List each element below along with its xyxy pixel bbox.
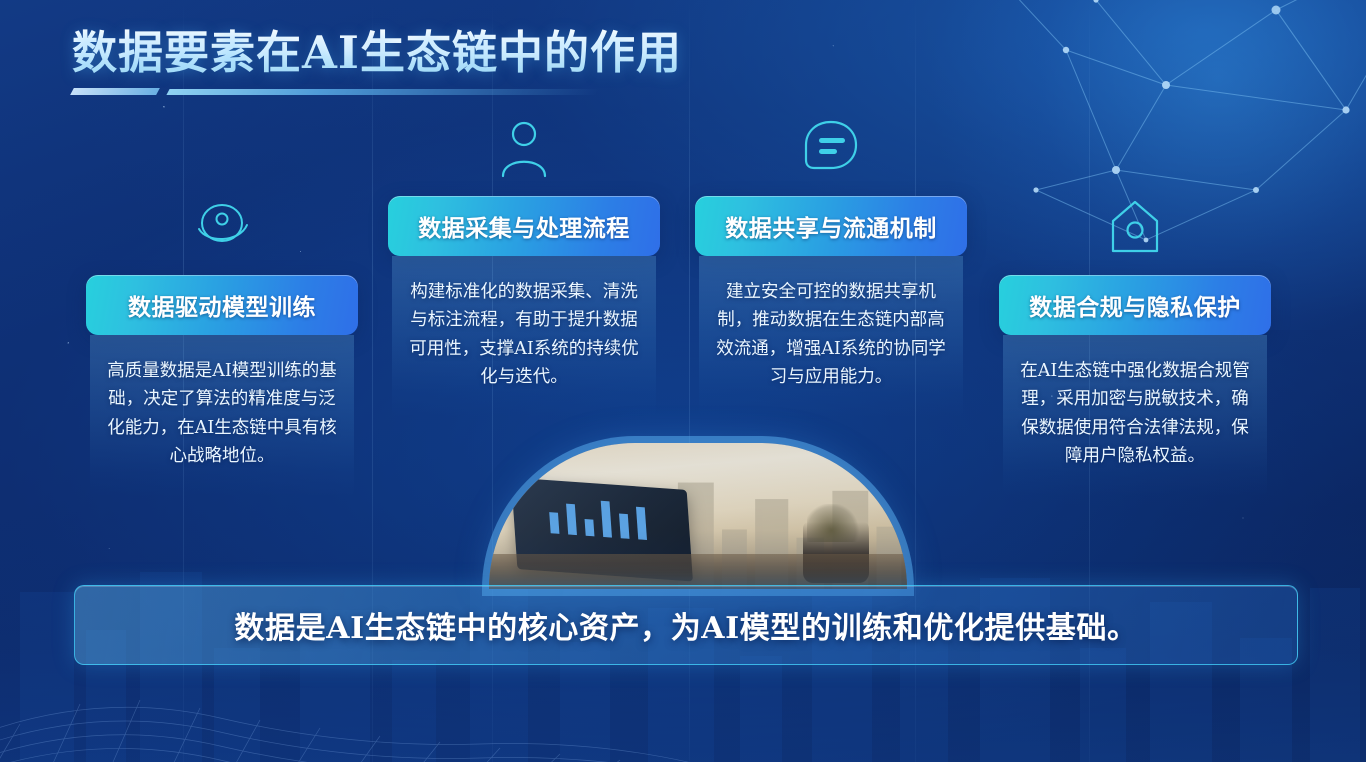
home-shield-icon: [1106, 197, 1164, 257]
office-desk-photo: [489, 443, 907, 589]
card-heading-text: 数据驱动模型训练: [128, 288, 316, 322]
planet-icon-holder: [86, 197, 358, 255]
page-title: 数据要素在AI生态链中的作用: [72, 28, 682, 78]
card-heading-text: 数据合规与隐私保护: [1029, 288, 1241, 322]
card-body-text: 构建标准化的数据采集、清洗与标注流程，有助于提升数据可用性，支撑AI系统的持续优…: [402, 278, 646, 391]
card-heading-pill[interactable]: 数据合规与隐私保护: [999, 275, 1271, 335]
card-body-text: 在AI生态链中强化数据合规管理，采用加密与脱敏技术，确保数据使用符合法律法规，保…: [1013, 357, 1257, 470]
user-icon: [495, 118, 553, 180]
chat-bubble-icon-holder: [695, 118, 967, 176]
card-compliance-privacy[interactable]: 数据合规与隐私保护 在AI生态链中强化数据合规管理，采用加密与脱敏技术，确保数据…: [999, 275, 1271, 496]
center-arch-image: [489, 443, 907, 589]
card-body-text: 高质量数据是AI模型训练的基础，决定了算法的精准度与泛化能力，在AI生态链中具有…: [100, 357, 344, 470]
card-body-panel: 在AI生态链中强化数据合规管理，采用加密与脱敏技术，确保数据使用符合法律法规，保…: [1003, 335, 1267, 496]
title-underline-segment: [70, 88, 160, 95]
card-heading-pill[interactable]: 数据采集与处理流程: [388, 196, 660, 256]
photo-blue-tint: [489, 443, 907, 589]
card-heading-text: 数据采集与处理流程: [418, 209, 630, 243]
summary-banner[interactable]: 数据是AI生态链中的核心资产，为AI模型的训练和优化提供基础。: [74, 585, 1298, 665]
summary-banner-text: 数据是AI生态链中的核心资产，为AI模型的训练和优化提供基础。: [234, 603, 1137, 647]
card-collection-pipeline[interactable]: 数据采集与处理流程 构建标准化的数据采集、清洗与标注流程，有助于提升数据可用性，…: [388, 196, 660, 417]
title-underline-accent: [72, 87, 612, 96]
card-body-panel: 构建标准化的数据采集、清洗与标注流程，有助于提升数据可用性，支撑AI系统的持续优…: [392, 256, 656, 417]
home-shield-icon-holder: [999, 197, 1271, 257]
slide-canvas: 数据要素在AI生态链中的作用: [0, 0, 1366, 762]
planet-icon: [191, 197, 253, 255]
card-data-driven-training[interactable]: 数据驱动模型训练 高质量数据是AI模型训练的基础，决定了算法的精准度与泛化能力，…: [86, 275, 358, 496]
chat-bubble-icon: [802, 118, 860, 176]
card-sharing-mechanism[interactable]: 数据共享与流通机制 建立安全可控的数据共享机制，推动数据在生态链内部高效流通，增…: [695, 196, 967, 417]
user-icon-holder: [388, 118, 660, 180]
card-heading-pill[interactable]: 数据共享与流通机制: [695, 196, 967, 256]
card-body-panel: 建立安全可控的数据共享机制，推动数据在生态链内部高效流通，增强AI系统的协同学习…: [699, 256, 963, 417]
card-body-text: 建立安全可控的数据共享机制，推动数据在生态链内部高效流通，增强AI系统的协同学习…: [709, 278, 953, 391]
page-title-block: 数据要素在AI生态链中的作用: [72, 28, 682, 96]
card-body-panel: 高质量数据是AI模型训练的基础，决定了算法的精准度与泛化能力，在AI生态链中具有…: [90, 335, 354, 496]
title-underline-segment: [166, 89, 599, 95]
card-heading-pill[interactable]: 数据驱动模型训练: [86, 275, 358, 335]
card-heading-text: 数据共享与流通机制: [725, 209, 937, 243]
